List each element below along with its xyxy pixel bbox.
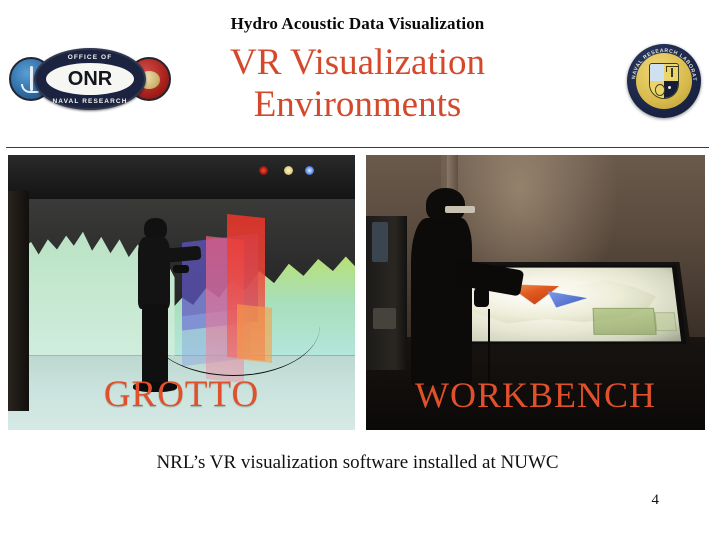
photo-workbench: WORKBENCH (366, 155, 705, 430)
nrl-trident-icon (671, 68, 673, 77)
page-title: VR Visualization Environments (150, 42, 565, 126)
grotto-light-red-icon (259, 166, 268, 175)
photo-caption-grotto: GROTTO (8, 373, 355, 416)
header-divider (6, 147, 709, 148)
slide-page-number: 4 (652, 492, 660, 509)
workbench-green-data-panel (592, 307, 656, 335)
photo-caption-workbench: WORKBENCH (366, 374, 705, 416)
onr-top-text: OFFICE OF (36, 54, 144, 61)
workbench-tracked-wand (474, 287, 489, 307)
page-title-line-2: Environments (150, 84, 565, 126)
grotto-light-white-icon (284, 166, 293, 175)
workbench-user-body (411, 218, 472, 386)
slide-footer-note: NRL’s VR visualization software installe… (0, 452, 715, 474)
slide-root: Hydro Acoustic Data Visualization VR Vis… (0, 0, 715, 535)
nrl-shield-icon (649, 63, 679, 99)
photo-grotto: GROTTO (8, 155, 355, 430)
workbench-stereo-glasses-icon (445, 206, 475, 213)
onr-oval-plate: OFFICE OF ONR NAVAL RESEARCH (34, 48, 146, 110)
onr-center-text: ONR (36, 64, 144, 94)
grotto-tracked-wand (173, 265, 189, 273)
grotto-light-blue-icon (305, 166, 314, 175)
page-title-line-1: VR Visualization (150, 42, 565, 84)
nrl-seal-logo: U.S. NAVAL RESEARCH LABORATORY WASHINGTO… (627, 44, 701, 118)
grotto-wand-cable (147, 276, 321, 376)
onr-seal-logo: OFFICE OF ONR NAVAL RESEARCH (8, 46, 172, 112)
nrl-inner-disc (636, 53, 692, 109)
nrl-shield-quadrant-br (664, 81, 678, 98)
workbench-user-silhouette (407, 188, 482, 386)
grotto-ceiling-lights (258, 166, 334, 183)
nrl-shield-quadrant-tl (650, 64, 664, 81)
workbench-user-head (426, 188, 465, 222)
slide-subtitle: Hydro Acoustic Data Visualization (0, 14, 715, 34)
onr-bottom-text: NAVAL RESEARCH (36, 98, 144, 105)
workbench-equipment-rack (366, 216, 407, 370)
